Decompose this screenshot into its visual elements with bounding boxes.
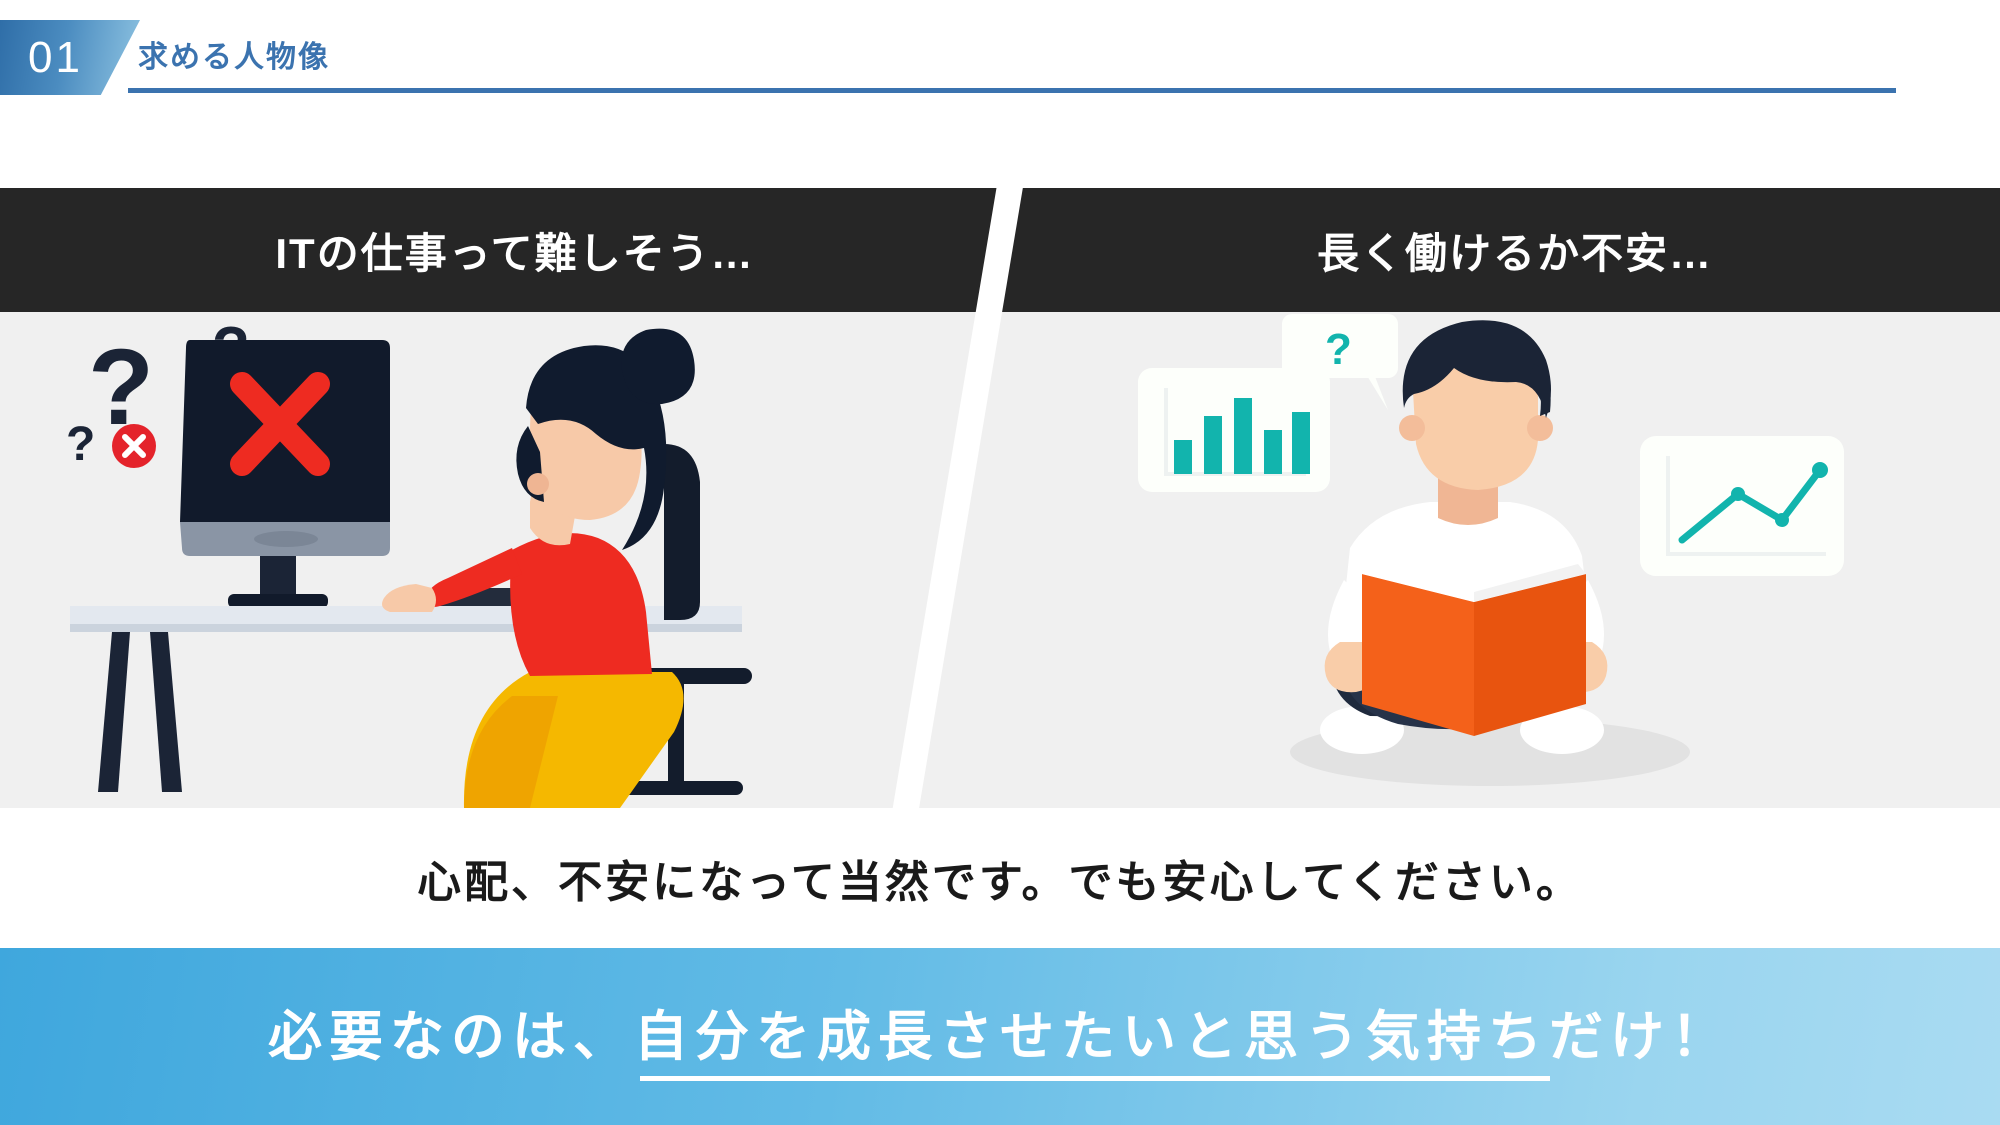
monitor-icon (180, 340, 390, 608)
left-illustration: ? ? ? (60, 312, 900, 808)
speech-bubble-text: ? (1325, 325, 1352, 374)
closing-banner: 必要なのは、自分を成長させたいと思う気持ちだけ！ (0, 948, 2000, 1125)
svg-text:?: ? (66, 418, 95, 471)
comparison-panels: ITの仕事って難しそう… 長く働けるか不安… ? ? ? (0, 188, 2000, 808)
bar-2 (1204, 416, 1222, 474)
reassurance-caption: 心配、不安になって当然です。でも安心してください。 (0, 808, 2000, 948)
bar-5 (1292, 412, 1310, 474)
bar-chart-card (1138, 368, 1330, 492)
bar-1 (1174, 440, 1192, 474)
line-point-4 (1812, 462, 1828, 478)
section-number-label: 01 (28, 36, 83, 80)
header-divider-rule (128, 88, 1896, 93)
bar-3 (1234, 398, 1252, 474)
error-badge-icon (112, 424, 156, 468)
reassurance-caption-text: 心配、不安になって当然です。でも安心してください。 (417, 846, 1583, 910)
section-number-badge: 01 (0, 20, 140, 95)
bar-4 (1264, 430, 1282, 474)
page-header: 01 求める人物像 (0, 0, 2000, 120)
page-title: 求める人物像 (138, 32, 330, 76)
question-mark-icon: ? (66, 418, 95, 471)
line-point-3 (1775, 513, 1789, 527)
line-point-2 (1731, 487, 1745, 501)
person-figure (382, 329, 695, 808)
closing-banner-text: 必要なのは、自分を成長させたいと思う気持ちだけ！ (0, 992, 2000, 1071)
right-illustration: ? (1130, 312, 1850, 808)
right-panel-heading: 長く働けるか不安… (1030, 188, 2000, 312)
closing-banner-underline (640, 1076, 1550, 1081)
left-panel-heading: ITの仕事って難しそう… (0, 188, 1030, 312)
person-figure (1320, 320, 1607, 754)
line-chart-card (1640, 436, 1844, 576)
